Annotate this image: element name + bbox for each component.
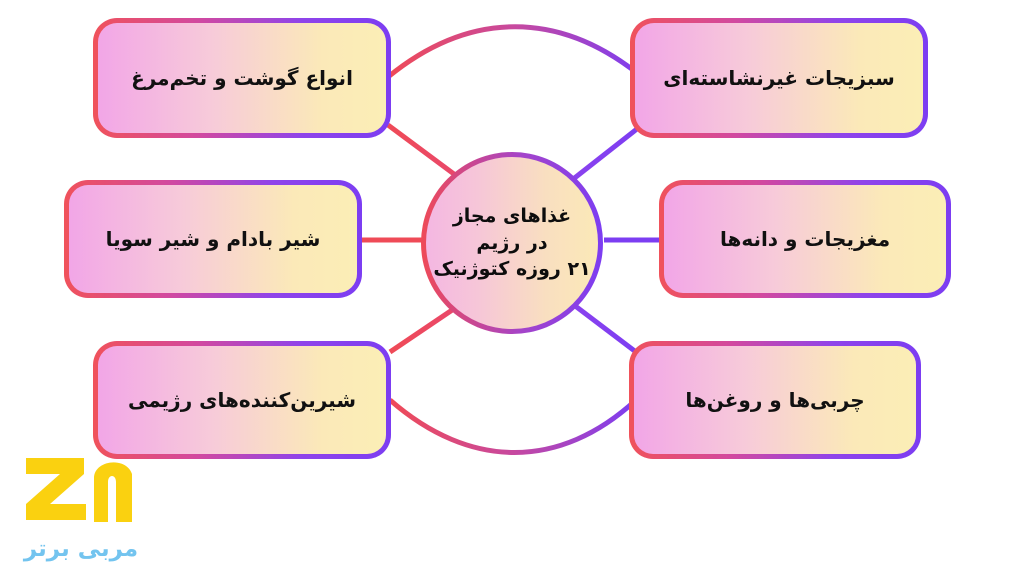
node-diet-sweeteners-body: شیرین‌کننده‌های رژیمی <box>98 346 386 454</box>
center-hub-body: غذاهای مجاز در رژیم ۲۱ روزه کتوژنیک <box>426 157 598 329</box>
node-nuts-seeds-body: مغزیجات و دانه‌ها <box>664 185 946 293</box>
node-meat-eggs-body: انواع گوشت و تخم‌مرغ <box>98 23 386 133</box>
diagram-canvas: انواع گوشت و تخم‌مرغ سبزیجات غیرنشاسته‌ا… <box>0 0 1024 576</box>
node-meat-eggs-label: انواع گوشت و تخم‌مرغ <box>131 65 353 92</box>
node-nuts-seeds-label: مغزیجات و دانه‌ها <box>720 226 890 253</box>
node-fats-oils-label: چربی‌ها و روغن‌ها <box>685 387 864 414</box>
node-non-starchy-vegetables-body: سبزیجات غیرنشاسته‌ای <box>635 23 923 133</box>
center-hub-line-2: در رژیم <box>476 230 547 257</box>
node-almond-soy-milk-body: شیر بادام و شیر سویا <box>69 185 357 293</box>
node-fats-oils-body: چربی‌ها و روغن‌ها <box>634 346 916 454</box>
node-diet-sweeteners-label: شیرین‌کننده‌های رژیمی <box>128 387 356 414</box>
node-almond-soy-milk-label: شیر بادام و شیر سویا <box>106 226 321 253</box>
center-hub[interactable]: غذاهای مجاز در رژیم ۲۱ روزه کتوژنیک <box>421 152 603 334</box>
spoke-top-right <box>572 125 642 180</box>
spoke-top-left <box>388 125 462 180</box>
node-diet-sweeteners[interactable]: شیرین‌کننده‌های رژیمی <box>93 341 391 459</box>
center-hub-line-1: غذاهای مجاز <box>453 203 571 230</box>
node-non-starchy-vegetables[interactable]: سبزیجات غیرنشاسته‌ای <box>630 18 928 138</box>
arc-top <box>388 27 642 77</box>
center-hub-line-3: ۲۱ روزه کتوژنیک <box>433 256 590 283</box>
spoke-bottom-right <box>570 302 636 352</box>
node-non-starchy-vegetables-label: سبزیجات غیرنشاسته‌ای <box>663 65 895 92</box>
node-almond-soy-milk[interactable]: شیر بادام و شیر سویا <box>64 180 362 298</box>
node-fats-oils[interactable]: چربی‌ها و روغن‌ها <box>629 341 921 459</box>
arc-bottom <box>390 400 636 453</box>
logo-subtitle-icon: مربی برتر <box>22 528 140 568</box>
watermark-logo: مربی برتر <box>8 452 140 576</box>
node-nuts-seeds[interactable]: مغزیجات و دانه‌ها <box>659 180 951 298</box>
node-meat-eggs[interactable]: انواع گوشت و تخم‌مرغ <box>93 18 391 138</box>
logo-mark-icon <box>22 452 140 524</box>
logo-subtitle-text: مربی برتر <box>23 536 138 562</box>
